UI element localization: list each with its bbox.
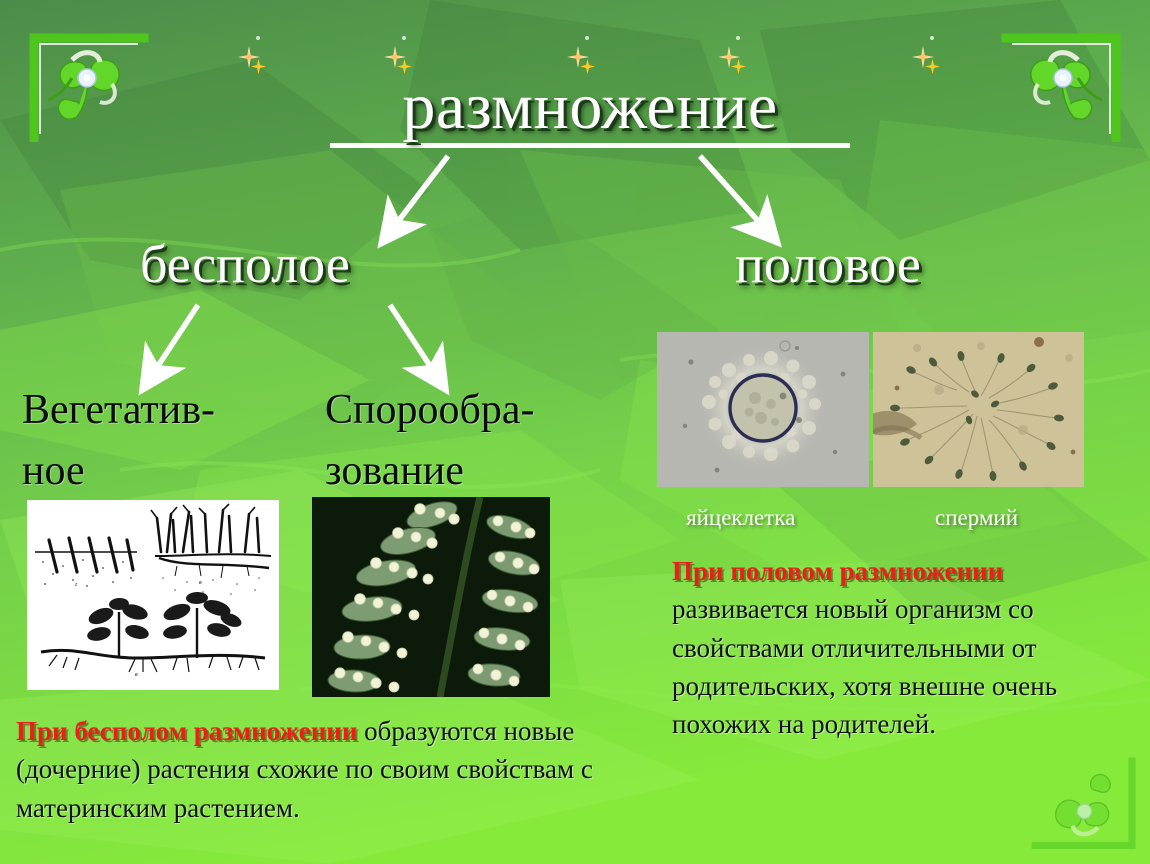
gamete-label-sperm: спермий bbox=[935, 505, 1018, 531]
branch-label-sexual: половое bbox=[735, 233, 921, 295]
subtype-label-spore-line1: Спорообра- bbox=[325, 380, 595, 441]
sparkle-icon bbox=[561, 40, 595, 74]
svg-text:в: в bbox=[199, 580, 202, 586]
branch-label-asexual: бесполое bbox=[140, 233, 350, 295]
caption-asexual-emphasis: При бесполом размножении bbox=[16, 716, 357, 746]
sparkle-icon bbox=[378, 40, 412, 74]
gamete-label-ovum: яйцеклетка bbox=[686, 505, 795, 531]
caption-sexual: При половом размножении развивается новы… bbox=[672, 552, 1102, 744]
caption-sexual-emphasis: При половом размножении bbox=[672, 556, 1003, 586]
sparkle-icon bbox=[712, 40, 746, 74]
subtype-label-vegetative-line2: ное bbox=[22, 441, 272, 502]
subtype-label-vegetative: Вегетатив- ное bbox=[22, 380, 272, 502]
spermatozoa-microscopy-image bbox=[873, 332, 1084, 487]
sparkle-icon bbox=[232, 40, 266, 74]
caption-sexual-body: развивается новый организм со свойствами… bbox=[672, 594, 1057, 739]
page-title: размножение bbox=[330, 72, 850, 148]
slide-canvas: г в bbox=[0, 0, 1150, 864]
corner-ornament-top-right bbox=[992, 26, 1124, 142]
sparkle-icon bbox=[906, 40, 940, 74]
ovum-microscopy-image bbox=[657, 332, 869, 487]
subtype-label-spore: Спорообра- зование bbox=[325, 380, 595, 502]
vegetative-propagation-image: г в bbox=[27, 500, 279, 690]
caption-asexual: При бесполом размножении образуются новы… bbox=[16, 712, 616, 827]
fern-sporangia-image bbox=[312, 497, 550, 697]
subtype-label-spore-line2: зование bbox=[325, 441, 595, 502]
corner-ornament-bottom-right bbox=[1020, 754, 1140, 858]
corner-ornament-top-left bbox=[26, 26, 158, 142]
svg-text:в: в bbox=[135, 672, 138, 678]
subtype-label-vegetative-line1: Вегетатив- bbox=[22, 380, 272, 441]
